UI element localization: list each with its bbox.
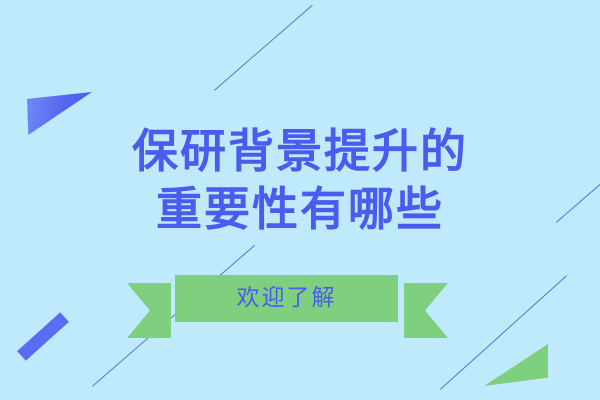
page-title: 保研背景提升的 重要性有哪些 <box>0 122 600 238</box>
blue-diagonal-bar-icon <box>17 312 69 360</box>
ribbon-tail-left-icon <box>127 283 171 338</box>
green-triangle-icon <box>484 344 548 386</box>
title-line-2: 重要性有哪些 <box>0 180 600 238</box>
title-line-1: 保研背景提升的 <box>0 122 600 180</box>
ribbon-banner: 欢迎了解 <box>127 275 448 338</box>
ribbon-label: 欢迎了解 <box>237 287 337 310</box>
ribbon-body: 欢迎了解 <box>175 275 398 322</box>
diagonal-line-top-icon <box>214 5 313 91</box>
ribbon-tail-right-icon <box>404 283 448 338</box>
poster-canvas: 保研背景提升的 重要性有哪些 欢迎了解 <box>0 0 600 400</box>
